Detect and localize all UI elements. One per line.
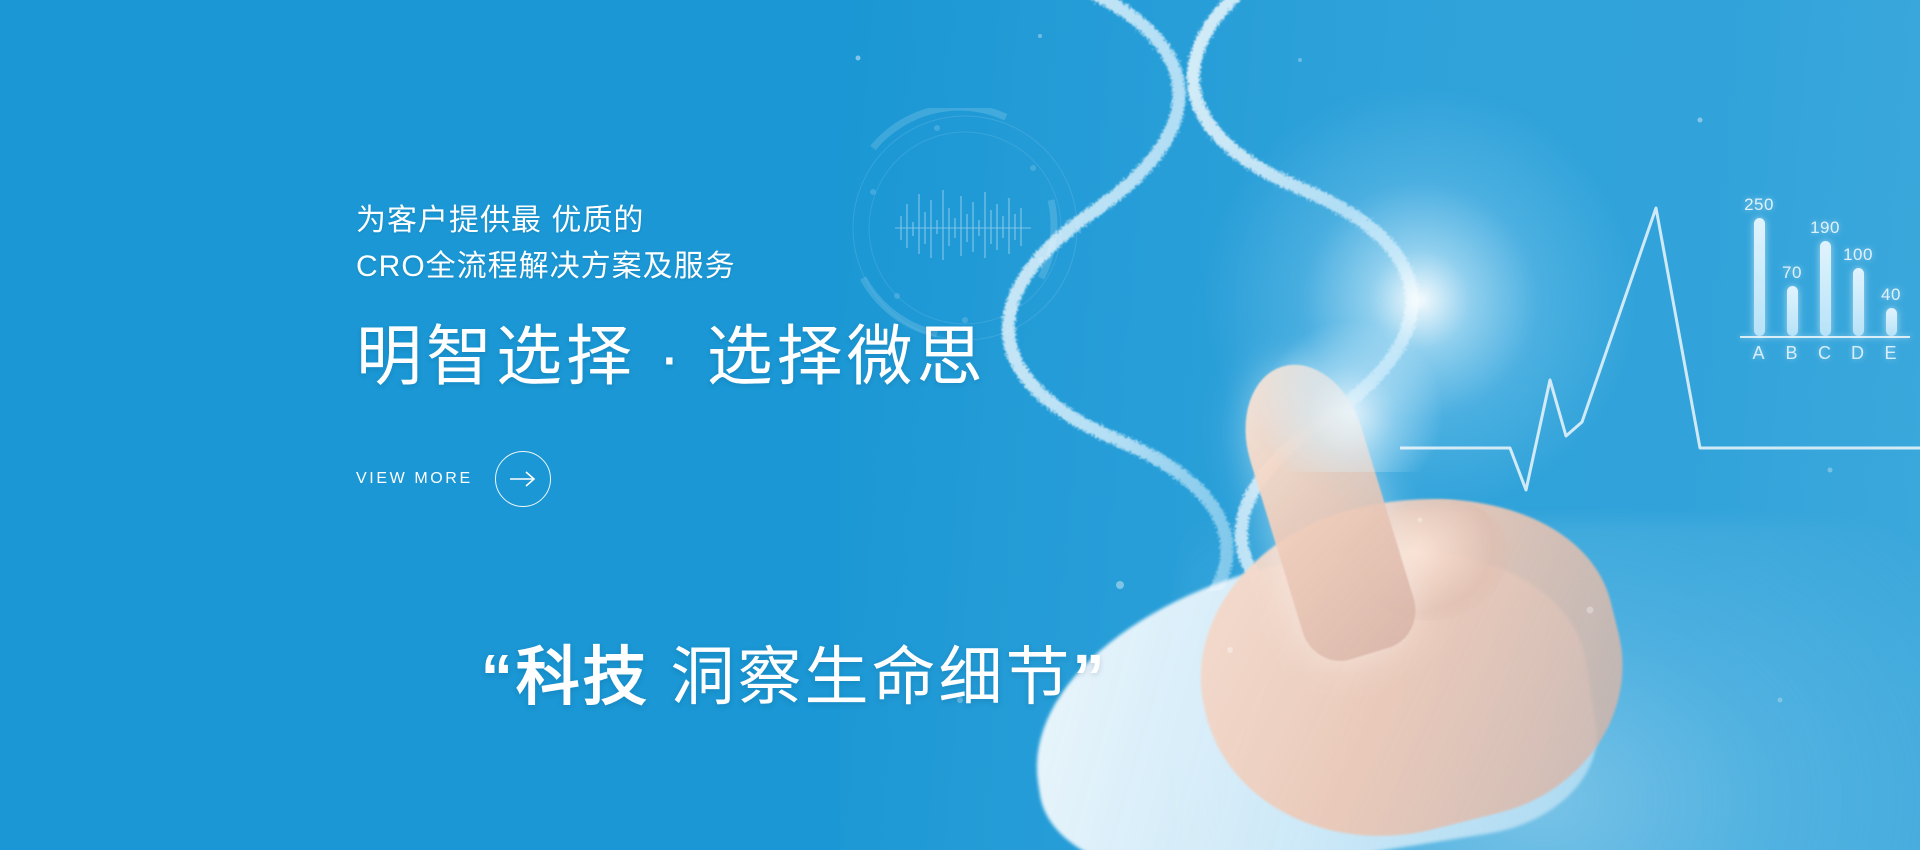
mini-bar-chart: 250 70 190 100 40 [1740,186,1920,386]
category-label-d: D [1845,343,1871,364]
view-more-label: VIEW MORE [356,470,473,488]
bar-column: 250 [1746,186,1772,336]
category-label-e: E [1878,343,1904,364]
hero-banner: 250 70 190 100 40 [0,0,1920,850]
category-label-a: A [1746,343,1772,364]
bar-b [1787,286,1798,336]
bar-column: 190 [1812,186,1838,336]
bar-value-label: 70 [1782,263,1802,283]
bar-value-label: 40 [1881,285,1901,305]
bar-c [1820,241,1831,336]
bar-value-label: 100 [1843,245,1873,265]
page-title: 明智选择 · 选择微思 [356,318,1176,395]
bar-value-label: 190 [1810,218,1840,238]
quote-strong-text: 科技 [516,641,650,713]
view-more-button[interactable]: VIEW MORE [356,451,551,507]
subheading-line-1: 为客户提供最 优质的 [356,198,1176,244]
quote-close-mark: ” [1072,641,1107,713]
subheading-line-2: CRO全流程解决方案及服务 [356,244,1176,290]
bar-a [1754,218,1765,336]
bar-e [1886,308,1897,336]
bar-value-label: 250 [1744,195,1774,215]
arrow-right-icon[interactable] [495,451,551,507]
quote-space [650,641,671,713]
bar-chart-plot: 250 70 190 100 40 [1740,186,1910,336]
hero-content: 为客户提供最 优质的 CRO全流程解决方案及服务 明智选择 · 选择微思 VIE… [356,198,1176,786]
bar-chart-category-labels: A B C D E [1740,338,1910,364]
quote-light-text: 洞察生命细节 [670,641,1072,713]
category-label-c: C [1812,343,1838,364]
bar-column: 40 [1878,186,1904,336]
bar-column: 70 [1779,186,1805,336]
bar-d [1853,268,1864,336]
quote-open-mark: “ [481,641,516,713]
hero-quote: “科技 洞察生命细节” [356,571,1176,786]
bar-column: 100 [1845,186,1871,336]
hero-subheading: 为客户提供最 优质的 CRO全流程解决方案及服务 [356,198,1176,290]
bar-chart-bars: 250 70 190 100 40 [1740,186,1910,336]
category-label-b: B [1779,343,1805,364]
